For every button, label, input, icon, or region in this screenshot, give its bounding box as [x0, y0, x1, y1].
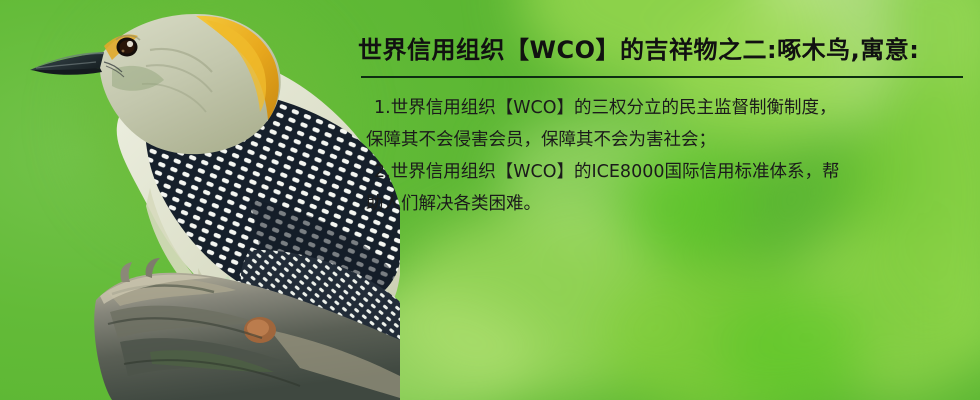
list-item-line-1: 2.世界信用组织【WCO】的ICE8000国际信用标准体系，帮 [366, 156, 966, 188]
list-item: 1.世界信用组织【WCO】的三权分立的民主监督制衡制度， 保障其不会侵害会员，保… [366, 92, 966, 156]
bokeh-blob [720, 290, 870, 400]
list-item-line-2: 保障其不会侵害会员，保障其不会为害社会； [366, 124, 966, 156]
page-title: 世界信用组织【WCO】的吉祥物之二:啄木鸟,寓意: [358, 34, 970, 66]
list-item-line-2: 助人们解决各类困难。 [366, 188, 966, 220]
title-divider [361, 76, 963, 78]
wco-mascot-banner: 世界信用组织【WCO】的吉祥物之二:啄木鸟,寓意: 1.世界信用组织【WCO】的… [0, 0, 980, 400]
list-item: 2.世界信用组织【WCO】的ICE8000国际信用标准体系，帮 助人们解决各类困… [366, 156, 966, 220]
mascot-meaning-list: 1.世界信用组织【WCO】的三权分立的民主监督制衡制度， 保障其不会侵害会员，保… [366, 92, 966, 220]
list-item-line-1: 1.世界信用组织【WCO】的三权分立的民主监督制衡制度， [366, 92, 966, 124]
woodpecker-photo [0, 0, 400, 400]
